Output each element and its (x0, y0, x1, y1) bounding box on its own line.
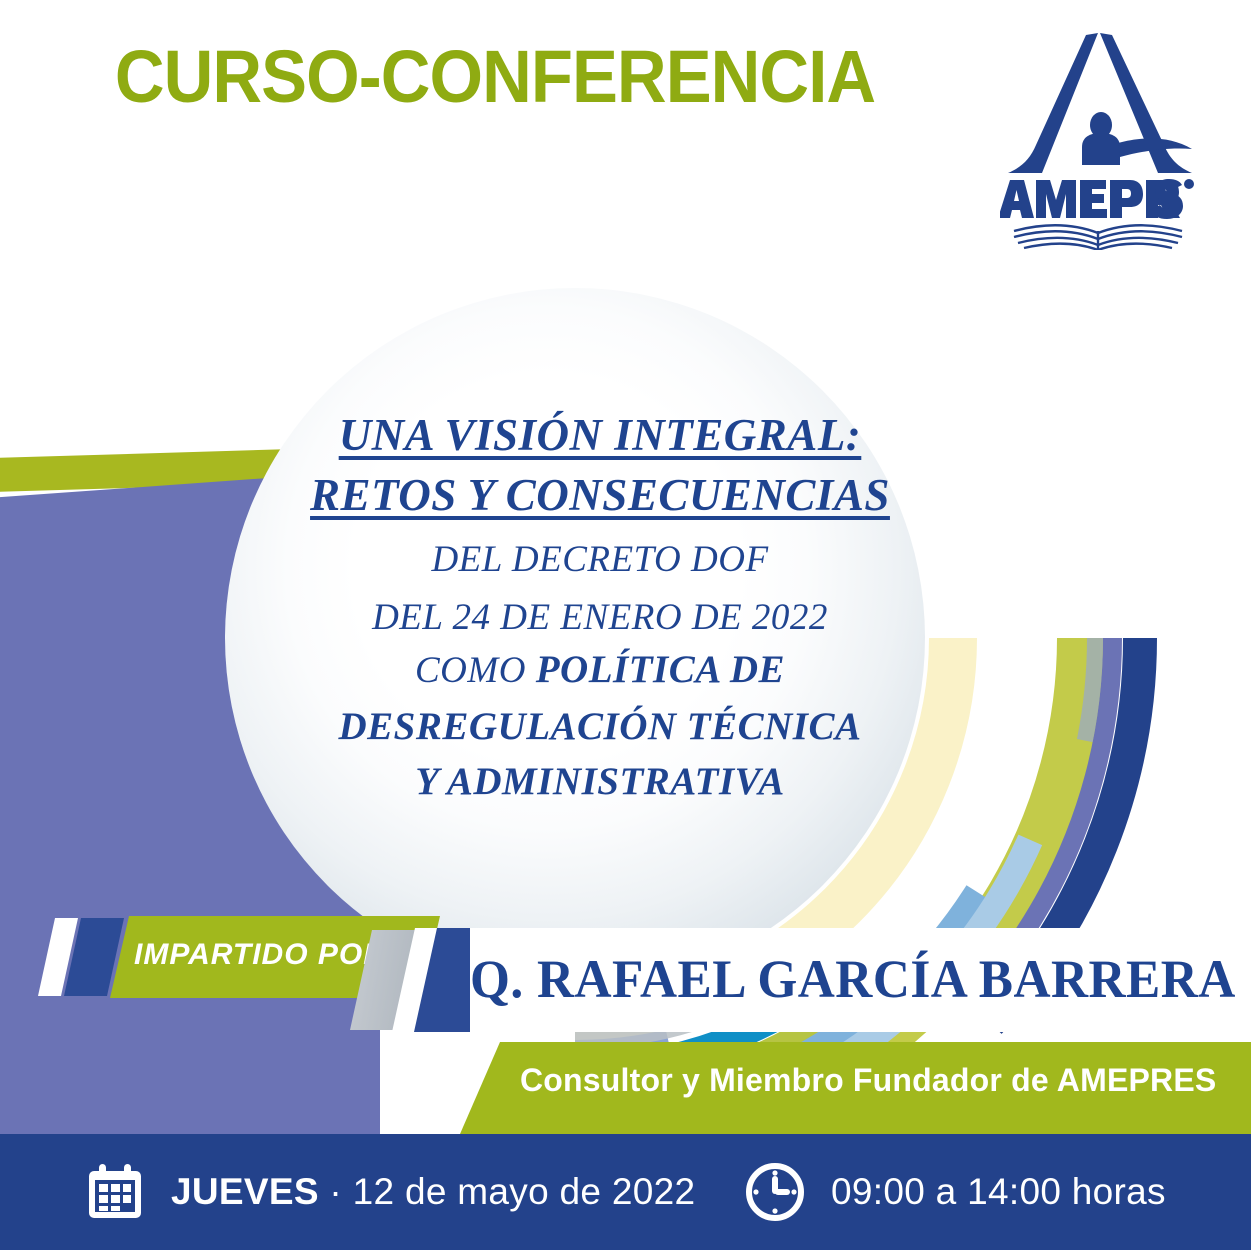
footer-date-text: JUEVES · 12 de mayo de 2022 (171, 1171, 695, 1213)
speaker-name: Q. RAFAEL GARCÍA BARRERA (470, 948, 1202, 1010)
emphasis-line-1: POLÍTICA DE (536, 648, 785, 691)
title-line-4: DEL 24 DE ENERO DE 2022 (250, 594, 950, 642)
speaker-role: Consultor y Miembro Fundador de AMEPRES (520, 1062, 1240, 1099)
footer-date-item: JUEVES · 12 de mayo de 2022 (85, 1162, 695, 1222)
title-line-5: COMO POLÍTICA DE (250, 642, 950, 699)
como-prefix: COMO (415, 650, 536, 691)
book-wave-icon (1014, 225, 1182, 250)
title-line-1: UNA VISIÓN INTEGRAL: (250, 405, 950, 465)
emphasis-line-3: Y ADMINISTRATIVA (250, 754, 950, 809)
amepres-wordmark (1000, 179, 1194, 219)
page-title: CURSO-CONFERENCIA (86, 34, 904, 119)
event-title-block: UNA VISIÓN INTEGRAL: RETOS Y CONSECUENCI… (250, 405, 950, 809)
footer-weekday: JUEVES (171, 1171, 319, 1212)
title-line-2: RETOS Y CONSECUENCIAS (250, 465, 950, 525)
footer-date-separator: · (319, 1171, 353, 1212)
footer-time-item: 09:00 a 14:00 horas (745, 1162, 1166, 1222)
footer-time-text: 09:00 a 14:00 horas (831, 1171, 1166, 1213)
clock-icon (745, 1162, 805, 1222)
title-line-3: DEL DECRETO DOF (250, 526, 950, 594)
poster-canvas: CURSO-CONFERENCIA (0, 0, 1251, 1250)
emphasis-line-2: DESREGULACIÓN TÉCNICA (250, 699, 950, 754)
calendar-icon (85, 1162, 145, 1222)
amepres-logo (1000, 25, 1200, 250)
footer-date-value: 12 de mayo de 2022 (353, 1171, 696, 1212)
